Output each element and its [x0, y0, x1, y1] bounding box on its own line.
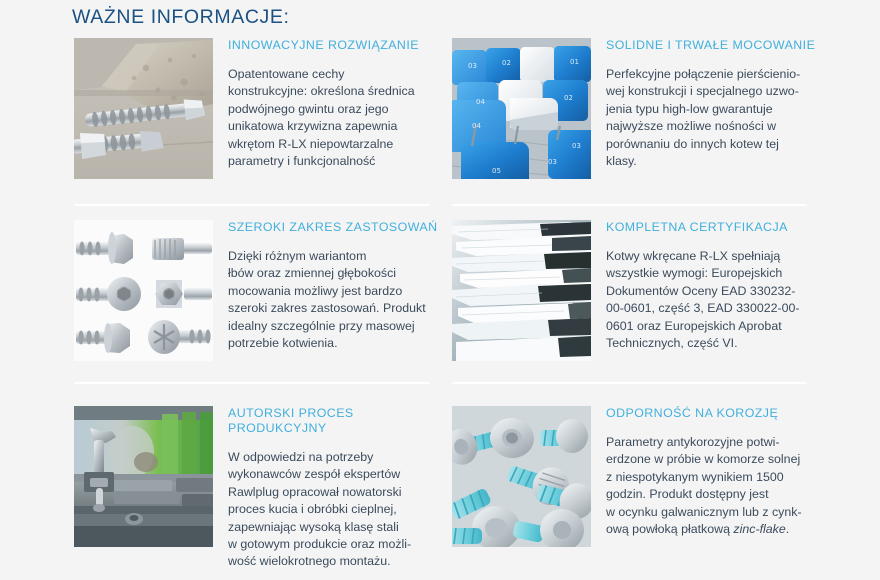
- card-copy: INNOWACYJNE ROZWIĄZANIE Opatentowane cec…: [228, 38, 448, 170]
- svg-text:03: 03: [468, 62, 477, 70]
- separator-right-1: [452, 204, 807, 206]
- card-body: Dzięki różnym wariantom łbów oraz zmienn…: [228, 248, 448, 352]
- cards-row-2: SZEROKI ZAKRES ZASTOSOWAŃ Dzięki różnym …: [0, 214, 880, 400]
- card-body: Perfekcyjne połączenie pierścienio- wej …: [606, 66, 826, 170]
- card-kompletna-certyfikacja: KOMPLETNA CERTYFIKACJA Kotwy wkręcane R-…: [452, 214, 830, 400]
- card-copy: ODPORNOŚĆ NA KOROZJĘ Parametry antykoroz…: [606, 406, 826, 538]
- separator-left-1: [74, 204, 430, 206]
- page-title: WAŻNE INFORMACJE:: [72, 6, 289, 29]
- stacked-documents-photo: [452, 220, 591, 361]
- svg-text:02: 02: [502, 59, 511, 67]
- production-machine-photo: [74, 406, 213, 547]
- separator-left-2: [74, 382, 430, 384]
- card-body-text: Parametry antykorozyjne potwi- erdzone w…: [606, 435, 802, 536]
- svg-text:03: 03: [548, 158, 557, 166]
- card-body-suffix: .: [786, 522, 789, 536]
- card-copy: SOLIDNE I TRWAŁE MOCOWANIE Perfekcyjne p…: [606, 38, 826, 170]
- card-body-emphasis: zinc-flake: [733, 522, 785, 536]
- info-page: WAŻNE INFORMACJE:: [0, 0, 880, 580]
- card-body: W odpowiedzi na potrzeby wykonawców zesp…: [228, 449, 448, 571]
- card-title: AUTORSKI PROCES PRODUKCYJNY: [228, 406, 448, 436]
- card-autorski-proces-produkcyjny: AUTORSKI PROCES PRODUKCYJNY W odpowiedzi…: [74, 400, 452, 580]
- cards-row-1: INNOWACYJNE ROZWIĄZANIE Opatentowane cec…: [0, 32, 880, 214]
- card-solidne-i-trwale-mocowanie: 030201 040302 0403 0503 SOLIDNE I TRWAŁE…: [452, 32, 830, 214]
- card-title: SZEROKI ZAKRES ZASTOSOWAŃ: [228, 220, 448, 235]
- card-body: Kotwy wkręcane R-LX spełniają wszystkie …: [606, 248, 826, 352]
- card-innowacyjne-rozwiazanie: INNOWACYJNE ROZWIĄZANIE Opatentowane cec…: [74, 32, 452, 214]
- svg-text:04: 04: [476, 98, 485, 106]
- concrete-screws-photo: [74, 38, 213, 179]
- screw-head-variants-photo: [74, 220, 213, 361]
- card-body: Opatentowane cechy konstrukcyjne: określ…: [228, 66, 448, 170]
- card-title: INNOWACYJNE ROZWIĄZANIE: [228, 38, 448, 53]
- stadium-seats-photo: 030201 040302 0403 0503: [452, 38, 591, 179]
- zinc-flake-screws-photo: [452, 406, 591, 547]
- separator-right-2: [452, 382, 807, 384]
- card-szeroki-zakres-zastosowan: SZEROKI ZAKRES ZASTOSOWAŃ Dzięki różnym …: [74, 214, 452, 400]
- svg-text:04: 04: [472, 122, 481, 130]
- card-odpornosc-na-korozje: ODPORNOŚĆ NA KOROZJĘ Parametry antykoroz…: [452, 400, 830, 580]
- svg-text:03: 03: [572, 142, 581, 150]
- card-body: Parametry antykorozyjne potwi- erdzone w…: [606, 434, 826, 538]
- card-title: ODPORNOŚĆ NA KOROZJĘ: [606, 406, 826, 421]
- card-copy: AUTORSKI PROCES PRODUKCYJNY W odpowiedzi…: [228, 406, 448, 571]
- cards-grid: INNOWACYJNE ROZWIĄZANIE Opatentowane cec…: [0, 32, 880, 580]
- svg-text:05: 05: [492, 167, 501, 175]
- cards-row-3: AUTORSKI PROCES PRODUKCYJNY W odpowiedzi…: [0, 400, 880, 580]
- svg-text:01: 01: [570, 58, 579, 66]
- card-copy: KOMPLETNA CERTYFIKACJA Kotwy wkręcane R-…: [606, 220, 826, 352]
- card-title: KOMPLETNA CERTYFIKACJA: [606, 220, 826, 235]
- svg-text:03: 03: [518, 94, 527, 102]
- card-copy: SZEROKI ZAKRES ZASTOSOWAŃ Dzięki różnym …: [228, 220, 448, 352]
- card-title: SOLIDNE I TRWAŁE MOCOWANIE: [606, 38, 826, 53]
- svg-text:02: 02: [564, 94, 573, 102]
